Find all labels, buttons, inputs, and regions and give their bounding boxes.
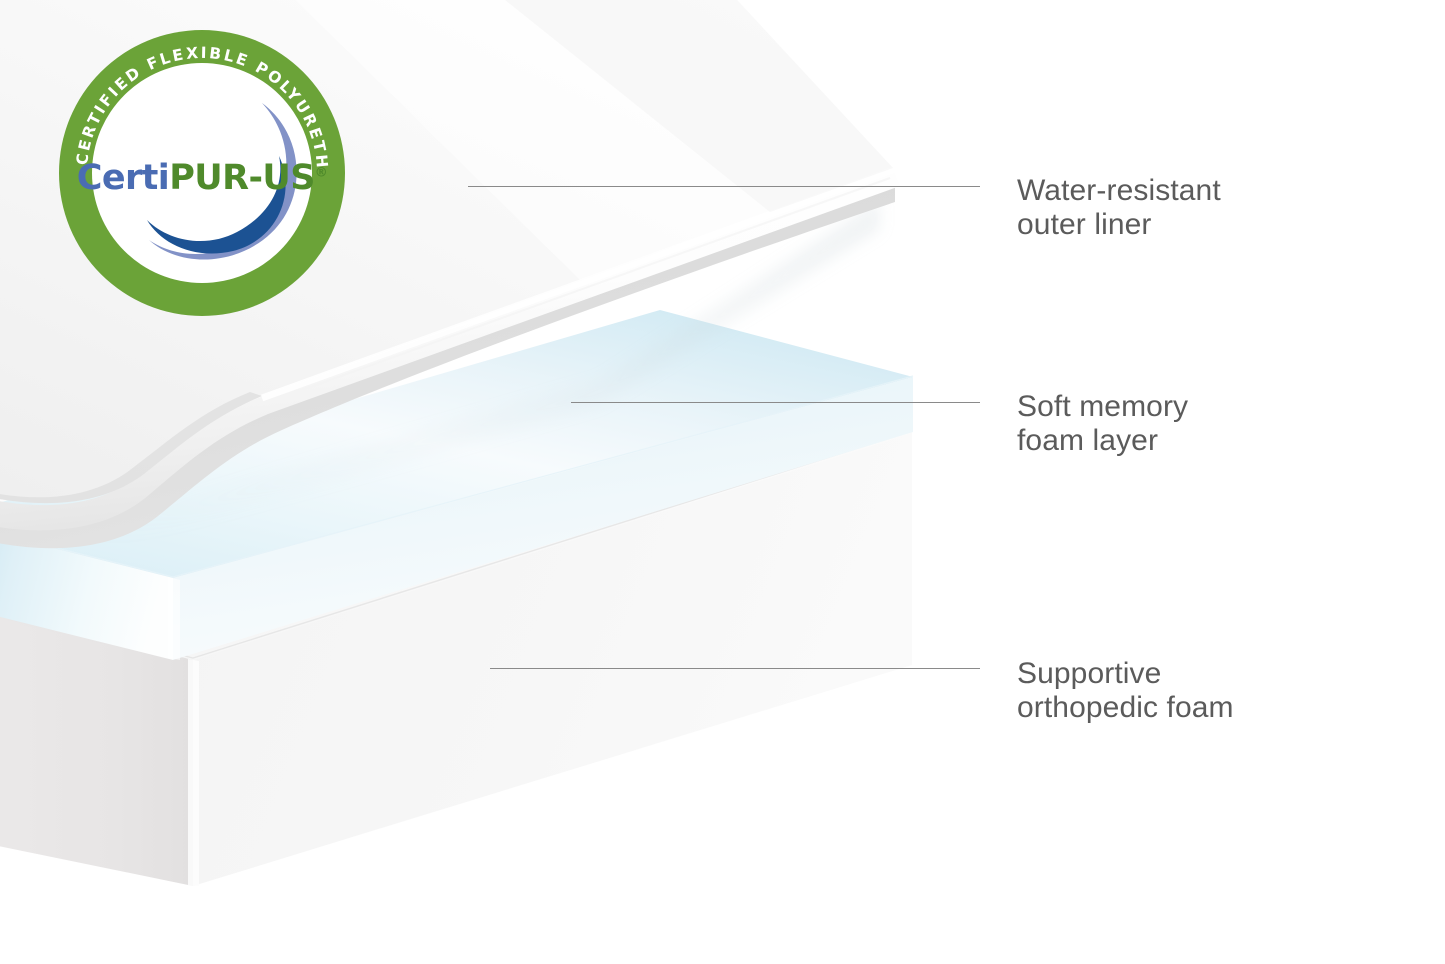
certipur-seal-graphic: CONTAINS CERTIFIED FLEXIBLE POLYURETHANE…	[57, 28, 347, 318]
diagram-canvas: Water-resistant outer liner Soft memory …	[0, 0, 1445, 964]
callout-label-orthopedic-foam: Supportive orthopedic foam	[1017, 657, 1234, 724]
callout-label-outer-liner: Water-resistant outer liner	[1017, 174, 1221, 241]
leader-line-memory-foam	[571, 402, 980, 403]
leader-line-orthopedic-foam	[490, 668, 980, 669]
certipur-us-badge: CONTAINS CERTIFIED FLEXIBLE POLYURETHANE…	[57, 28, 347, 318]
callout-label-memory-foam: Soft memory foam layer	[1017, 390, 1188, 457]
leader-line-outer-liner	[468, 186, 980, 187]
